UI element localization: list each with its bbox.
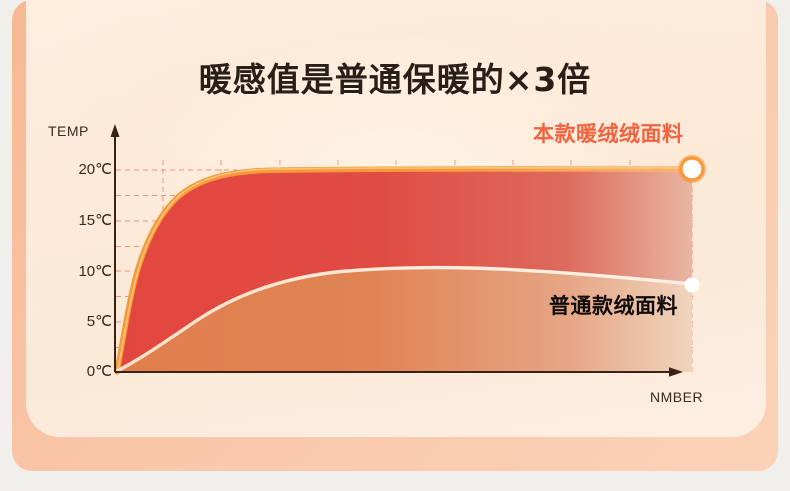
series-label-normal: 普通款绒面料: [549, 290, 678, 320]
x-axis-title: NMBER: [650, 389, 703, 405]
temperature-chart: [0, 0, 790, 491]
chart-svg: [0, 0, 790, 491]
series-label-hot: 本款暖绒绒面料: [533, 118, 684, 148]
y-tick-0: 0℃: [42, 362, 112, 380]
y-tick-20: 20℃: [42, 160, 112, 178]
y-axis-title: TEMP: [48, 123, 89, 139]
y-axis-arrow: [111, 124, 120, 137]
y-tick-5: 5℃: [42, 312, 112, 330]
hot-series-end-marker[interactable]: [679, 156, 706, 183]
normal-series-end-marker[interactable]: [685, 278, 700, 293]
page-root: 暖感值是普通保暖的×3倍: [0, 0, 790, 491]
y-tick-15: 15℃: [42, 211, 112, 229]
y-tick-10: 10℃: [42, 262, 112, 280]
